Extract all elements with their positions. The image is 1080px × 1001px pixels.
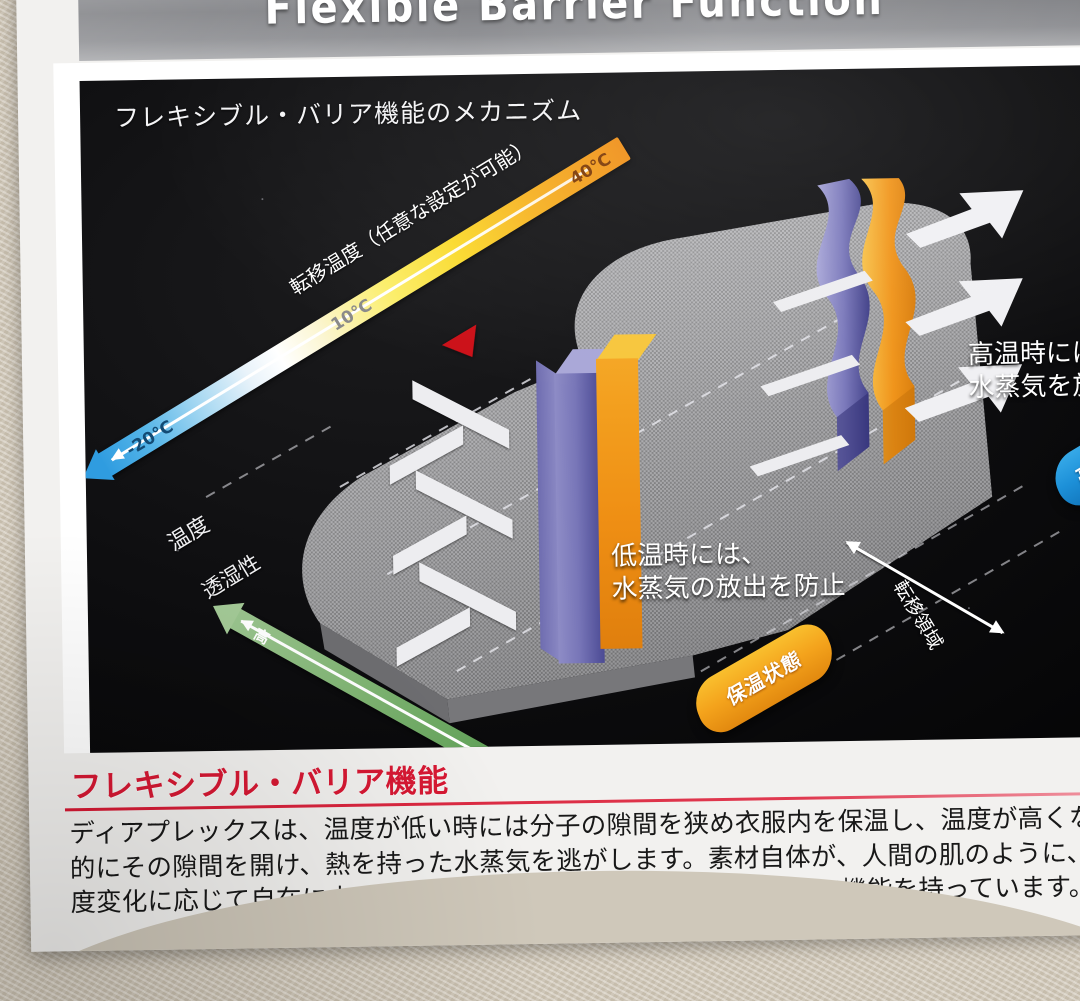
brochure-page: Flexible Barrier Function フレキシブル・バリア機能のメ…: [16, 0, 1080, 952]
high-temperature-note-line2: 水蒸気を放出: [968, 370, 1080, 406]
incoming-vapor-arrow-icon: [773, 267, 878, 315]
low-temperature-note-line1: 低温時には、: [611, 537, 846, 574]
isometric-stage: -20℃ 10℃ 40℃ 転移温度（任意な設定が可能） 温度 透湿性 高 低: [80, 65, 1080, 753]
incoming-vapor-arrow-icon: [749, 431, 854, 479]
mechanism-diagram: フレキシブル・バリア機能のメカニズム: [80, 65, 1080, 753]
diagram-frame: フレキシブル・バリア機能のメカニズム: [53, 47, 1080, 754]
high-temperature-note: 高温時には、 水蒸気を放出: [968, 337, 1080, 406]
escaping-vapor-arrow-icon: [905, 188, 1036, 250]
incoming-vapor-arrow-icon: [760, 351, 865, 399]
high-temperature-note-line1: 高温時には、: [968, 337, 1080, 373]
low-temperature-note: 低温時には、 水蒸気の放出を防止: [611, 537, 846, 607]
escaping-vapor-arrow-icon: [905, 276, 1036, 338]
closed-membrane-wall: [536, 344, 661, 666]
low-temperature-note-line2: 水蒸気の放出を防止: [611, 570, 846, 607]
